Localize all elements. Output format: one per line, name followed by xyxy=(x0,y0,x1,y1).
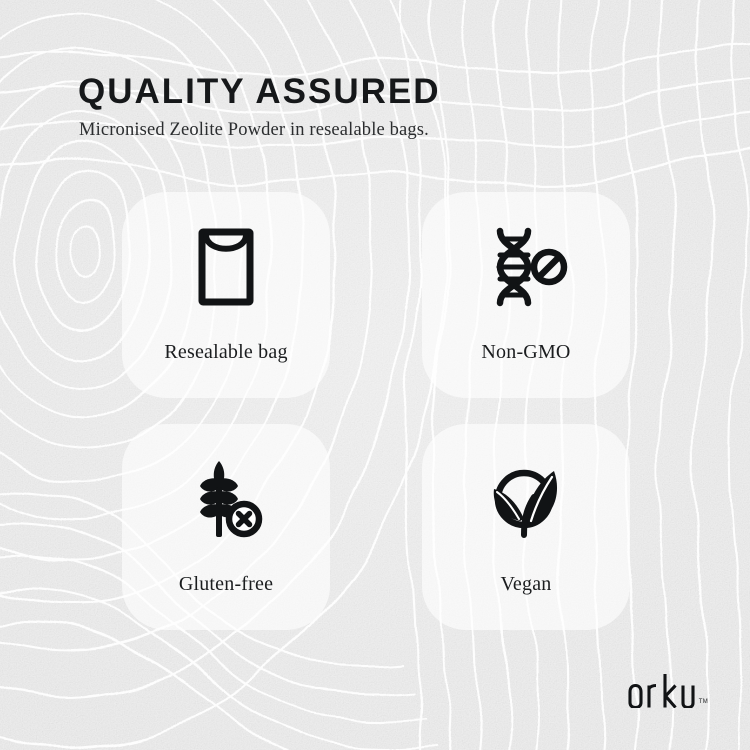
non-gmo-dna-icon xyxy=(484,192,568,342)
vegan-leaf-icon xyxy=(486,424,566,574)
feature-card-vegan: Vegan xyxy=(422,424,630,630)
brand-logo: TM xyxy=(627,674,708,708)
page-subtitle: Micronised Zeolite Powder in resealable … xyxy=(79,119,678,142)
feature-label: Gluten-free xyxy=(179,574,273,594)
feature-grid: Resealable bag xyxy=(122,192,630,630)
feature-card-gluten-free: Gluten-free xyxy=(122,424,330,630)
poster: QUALITY ASSURED Micronised Zeolite Powde… xyxy=(0,0,750,750)
feature-card-resealable-bag: Resealable bag xyxy=(122,192,330,398)
feature-label: Resealable bag xyxy=(164,342,287,362)
header: QUALITY ASSURED Micronised Zeolite Powde… xyxy=(78,73,678,142)
feature-label: Vegan xyxy=(501,574,552,594)
orku-wordmark xyxy=(627,674,697,708)
gluten-free-wheat-icon xyxy=(189,424,263,574)
resealable-bag-icon xyxy=(198,192,254,342)
feature-label: Non-GMO xyxy=(481,342,570,362)
trademark-mark: TM xyxy=(699,699,708,705)
feature-card-non-gmo: Non-GMO xyxy=(422,192,630,398)
page-title: QUALITY ASSURED xyxy=(78,73,678,110)
